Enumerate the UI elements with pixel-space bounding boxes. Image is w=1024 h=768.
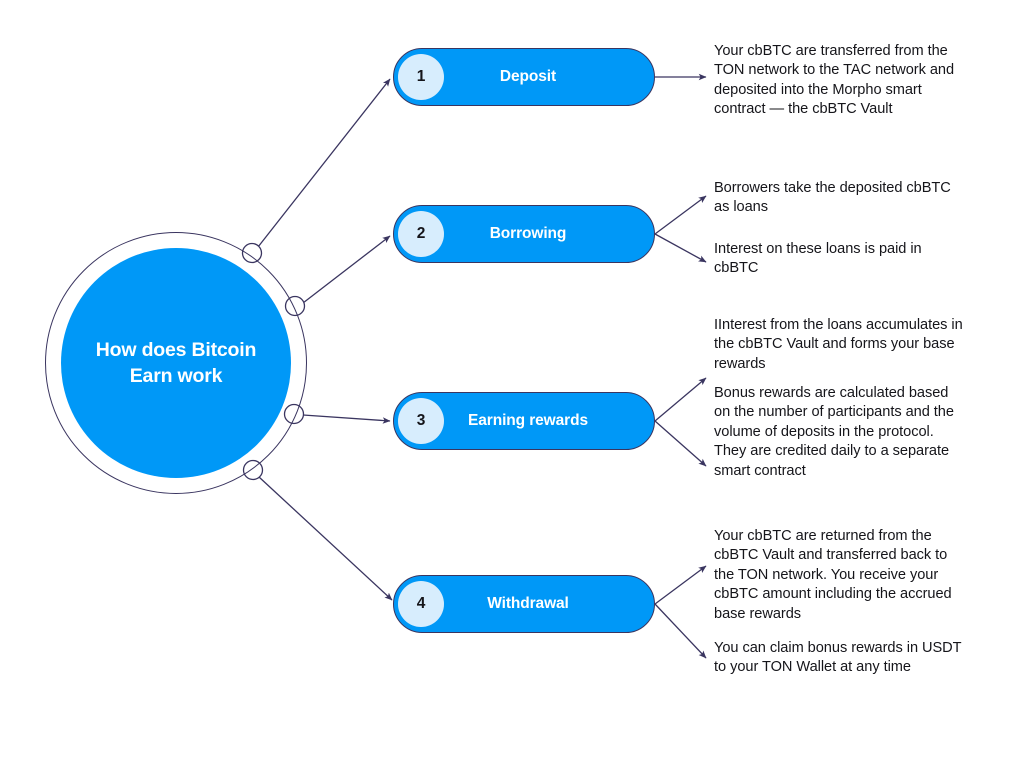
step-2-note-2: Interest on these loans is paid in cbBTC (714, 240, 968, 279)
step-label-2: Borrowing (444, 225, 654, 243)
hub-center-label: How does Bitcoin Earn work (61, 337, 291, 389)
step-pill-1[interactable]: 1 Deposit (393, 48, 655, 106)
connector-hub-to-step-3 (303, 415, 390, 421)
connector-hub-to-step-4 (259, 477, 392, 600)
step-1-note-1: Your cbBTC are transferred from the TON … (714, 42, 968, 120)
step-3-note-2: Bonus rewards are calculated based on th… (714, 384, 968, 481)
step-number-badge-1: 1 (398, 54, 444, 100)
hub-center-circle: How does Bitcoin Earn work (61, 248, 291, 478)
step-pill-4[interactable]: 4 Withdrawal (393, 575, 655, 633)
step-2-note-1: Borrowers take the deposited cbBTC as lo… (714, 179, 968, 218)
step-4-note-2: You can claim bonus rewards in USDT to y… (714, 639, 968, 678)
step-number-badge-3: 3 (398, 398, 444, 444)
step-4-note-1: Your cbBTC are returned from the cbBTC V… (714, 527, 968, 624)
connector-step-3-note-2 (655, 421, 706, 466)
connector-step-4-note-2 (655, 604, 706, 658)
connector-step-2-note-1 (655, 196, 706, 234)
step-label-3: Earning rewards (444, 412, 654, 430)
step-label-1: Deposit (444, 68, 654, 86)
step-pill-2[interactable]: 2 Borrowing (393, 205, 655, 263)
step-label-4: Withdrawal (444, 595, 654, 613)
step-pill-3[interactable]: 3 Earning rewards (393, 392, 655, 450)
connector-hub-to-step-1 (258, 79, 390, 247)
step-3-note-1: IInterest from the loans accumulates in … (714, 316, 968, 374)
connector-step-2-note-2 (655, 234, 706, 262)
connector-hub-to-step-2 (303, 236, 390, 303)
connector-step-3-note-1 (655, 378, 706, 421)
connector-step-4-note-1 (655, 566, 706, 604)
step-number-badge-4: 4 (398, 581, 444, 627)
diagram-canvas: How does Bitcoin Earn work 1 Deposit You… (0, 0, 1024, 768)
step-number-badge-2: 2 (398, 211, 444, 257)
